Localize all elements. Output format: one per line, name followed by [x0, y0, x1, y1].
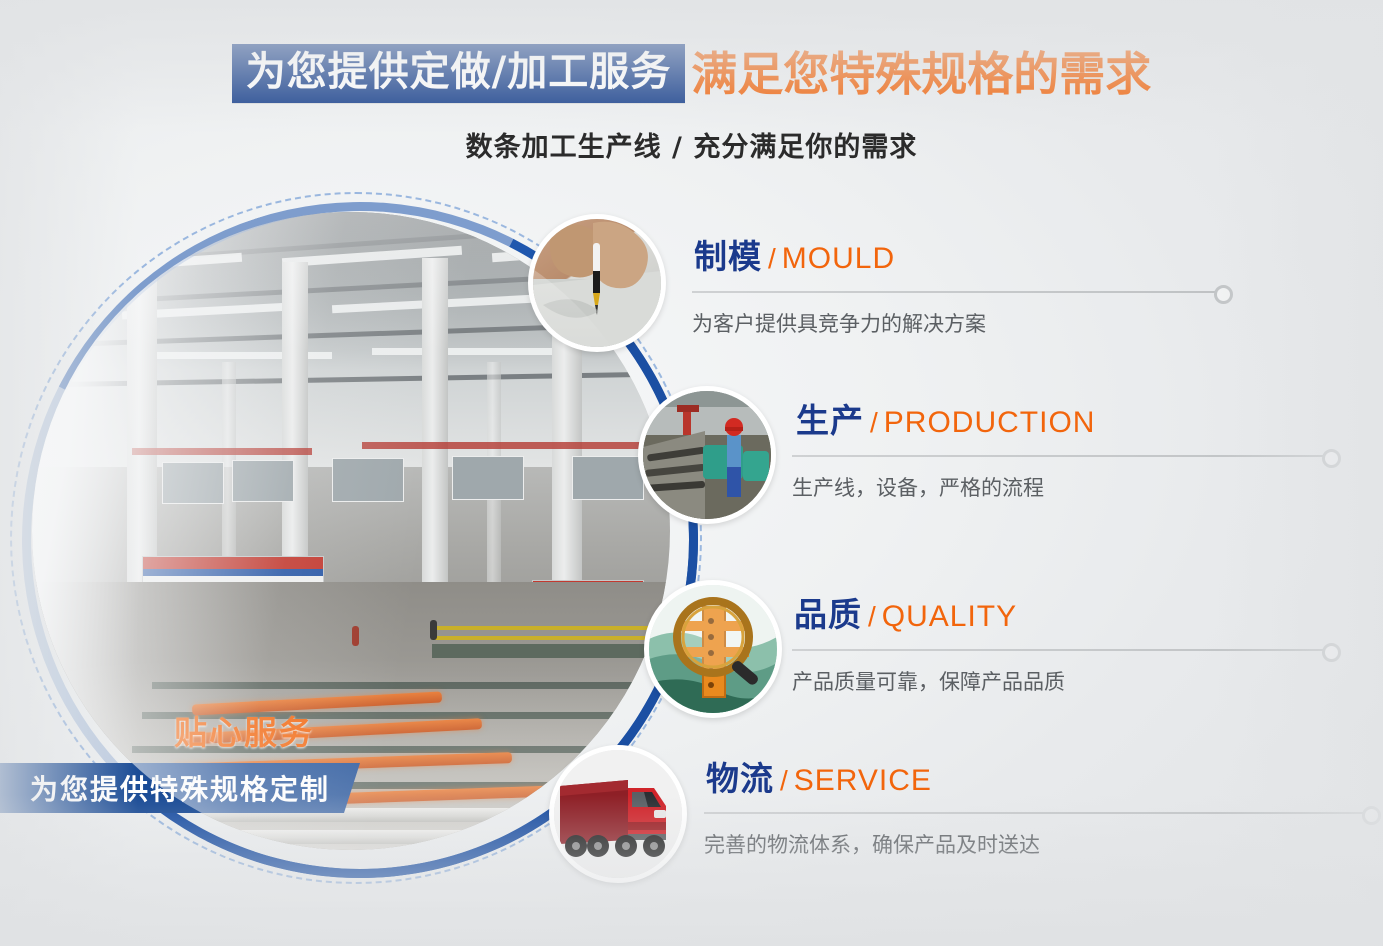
item-desc: 产品质量可靠，保障产品品质 — [792, 666, 1065, 696]
item-title-en: SERVICE — [794, 764, 932, 797]
item-title-en: MOULD — [782, 242, 895, 275]
item-title-production: 生产/PRODUCTION — [796, 404, 1095, 438]
item-title-mould: 制模/MOULD — [694, 240, 895, 274]
item-desc: 为客户提供具竞争力的解决方案 — [692, 308, 986, 338]
item-title-slash: / — [868, 601, 876, 632]
item-desc: 完善的物流体系，确保产品及时送达 — [704, 829, 1040, 859]
item-title-en: PRODUCTION — [884, 406, 1096, 439]
item-rule-dot — [1322, 643, 1341, 662]
factory-circle — [10, 192, 710, 902]
item-rule — [792, 455, 1328, 457]
item-title-slash: / — [780, 765, 788, 796]
item-title-service: 物流/SERVICE — [706, 762, 932, 796]
item-rule — [704, 812, 1368, 814]
item-title-slash: / — [870, 407, 878, 438]
header-badge: 为您提供定做/加工服务 — [232, 44, 686, 103]
header-subtitle: 数条加工生产线 / 充分满足你的需求 — [0, 125, 1383, 164]
photo-fade-overlay-2 — [32, 212, 670, 850]
item-title-cn: 品质 — [794, 595, 862, 634]
item-rule-dot — [1214, 285, 1233, 304]
item-title-quality: 品质/QUALITY — [794, 598, 1017, 632]
item-rule-dot — [1362, 806, 1381, 825]
item-title-cn: 制模 — [694, 237, 762, 276]
item-desc: 生产线，设备，严格的流程 — [792, 472, 1044, 502]
item-rule — [792, 649, 1328, 651]
item-title-slash: / — [768, 243, 776, 274]
header: 为您提供定做/加工服务 满足您特殊规格的需求 数条加工生产线 / 充分满足你的需… — [0, 44, 1383, 164]
header-highlight: 满足您特殊规格的需求 — [691, 51, 1151, 97]
factory-photo — [32, 212, 670, 850]
item-title-cn: 生产 — [796, 401, 864, 440]
item-title-cn: 物流 — [706, 759, 774, 798]
item-title-en: QUALITY — [882, 600, 1017, 633]
item-rule-dot — [1322, 449, 1341, 468]
header-title-row: 为您提供定做/加工服务 满足您特殊规格的需求 — [232, 44, 1152, 103]
promo-banner: 为您提供定做/加工服务 满足您特殊规格的需求 数条加工生产线 / 充分满足你的需… — [0, 0, 1383, 946]
item-rule — [692, 291, 1220, 293]
